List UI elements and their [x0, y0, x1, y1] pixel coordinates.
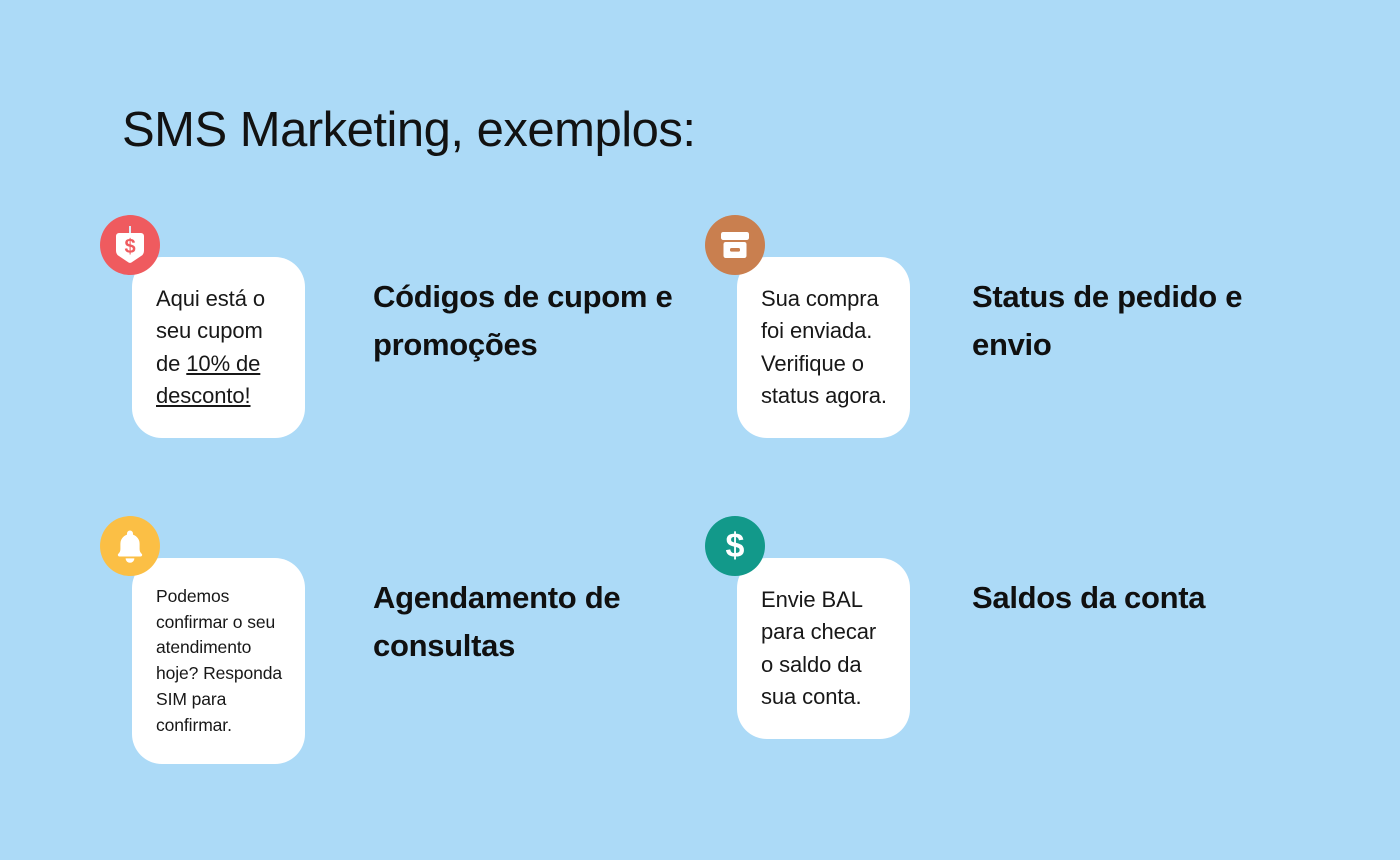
sms-bubble: Podemos confirmar o seu atendimento hoje… [132, 558, 305, 764]
dollar-sign-icon: $ [705, 516, 765, 576]
card-label-account-balance: Saldos da conta [972, 574, 1205, 622]
sms-message-text: Podemos confirmar o seu atendimento hoje… [156, 584, 283, 738]
svg-text:$: $ [726, 527, 745, 565]
sms-bubble: Aqui está o seu cupom de 10% de desconto… [132, 257, 305, 438]
example-card-appointment-scheduling: Podemos confirmar o seu atendimento hoje… [100, 516, 703, 670]
sms-message-text: Envie BAL para checar o saldo da sua con… [761, 584, 888, 713]
example-card-account-balance: $ Envie BAL para checar o saldo da sua c… [705, 516, 1205, 622]
page-title: SMS Marketing, exemplos: [122, 104, 696, 158]
examples-grid: $ Aqui está o seu cupom de 10% de descon… [0, 215, 1400, 806]
card-label-appointment-scheduling: Agendamento de consultas [373, 574, 703, 670]
card-label-coupon-codes: Códigos de cupom e promoções [373, 273, 703, 369]
example-card-order-status: Sua compra foi enviada. Verifique o stat… [705, 215, 1312, 369]
sms-message-text: Aqui está o seu cupom de 10% de desconto… [156, 283, 283, 412]
examples-row-2: Podemos confirmar o seu atendimento hoje… [0, 516, 1400, 806]
card-label-order-status: Status de pedido e envio [972, 273, 1312, 369]
examples-row-1: $ Aqui está o seu cupom de 10% de descon… [0, 215, 1400, 505]
sms-message-text: Sua compra foi enviada. Verifique o stat… [761, 283, 888, 412]
example-card-coupon-codes: $ Aqui está o seu cupom de 10% de descon… [100, 215, 703, 369]
package-box-icon [705, 215, 765, 275]
bell-icon [100, 516, 160, 576]
svg-text:$: $ [124, 236, 135, 258]
sms-bubble: Sua compra foi enviada. Verifique o stat… [737, 257, 910, 438]
price-tag-dollar-icon: $ [100, 215, 160, 275]
sms-bubble: Envie BAL para checar o saldo da sua con… [737, 558, 910, 739]
